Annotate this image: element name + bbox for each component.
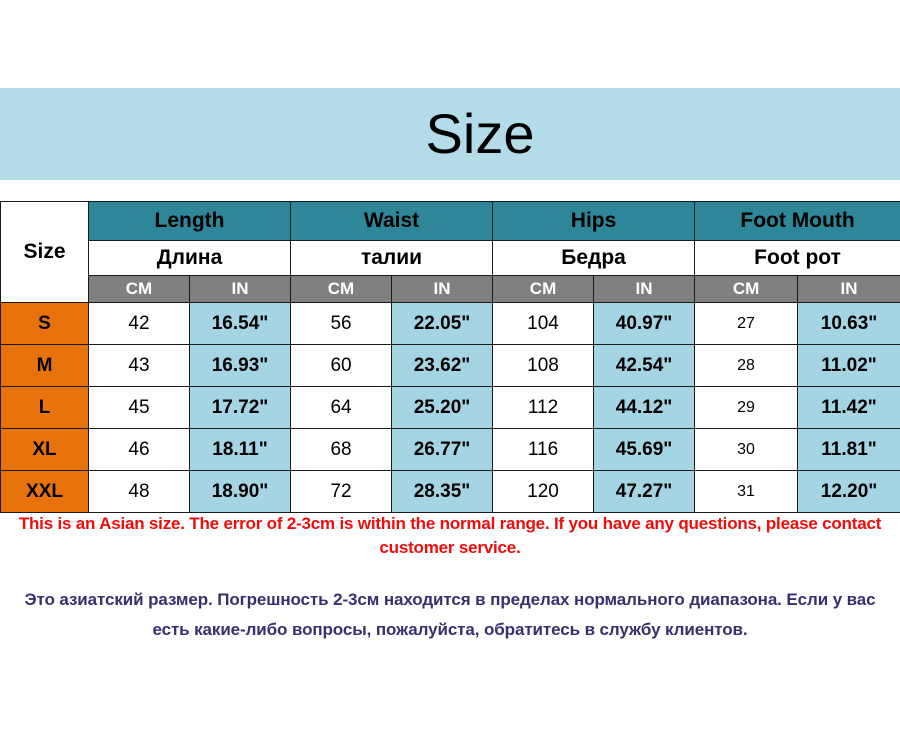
group-header-waist-ru: талии	[291, 241, 493, 276]
cell-hips-cm: 120	[493, 471, 594, 513]
row-size-label: XXL	[1, 471, 89, 513]
size-table: Size Length Waist Hips Foot Mouth Длина …	[0, 201, 900, 513]
title-banner: Size	[0, 88, 900, 180]
cell-foot-cm: 31	[695, 471, 798, 513]
cell-length-in: 16.93"	[190, 345, 291, 387]
cell-length-in: 17.72"	[190, 387, 291, 429]
cell-length-cm: 42	[89, 303, 190, 345]
cell-foot-cm: 27	[695, 303, 798, 345]
cell-foot-in: 12.20"	[798, 471, 900, 513]
cell-waist-cm: 60	[291, 345, 392, 387]
note-russian: Это азиатский размер. Погрешность 2-3см …	[0, 585, 900, 645]
cell-waist-in: 23.62"	[392, 345, 493, 387]
cell-hips-cm: 112	[493, 387, 594, 429]
cell-length-in: 18.90"	[190, 471, 291, 513]
cell-hips-cm: 108	[493, 345, 594, 387]
header-row-english: Size Length Waist Hips Foot Mouth	[1, 202, 900, 241]
unit-header-hips-in: IN	[594, 276, 695, 303]
cell-hips-in: 40.97"	[594, 303, 695, 345]
table-row: XL 46 18.11" 68 26.77" 116 45.69" 30 11.…	[1, 429, 900, 471]
cell-waist-in: 22.05"	[392, 303, 493, 345]
group-header-hips-en: Hips	[493, 202, 695, 241]
header-row-russian: Длина талии Бедра Foot рот	[1, 241, 900, 276]
group-header-footmouth-ru: Foot рот	[695, 241, 900, 276]
row-size-label: M	[1, 345, 89, 387]
group-header-length-en: Length	[89, 202, 291, 241]
cell-waist-cm: 64	[291, 387, 392, 429]
unit-header-foot-in: IN	[798, 276, 900, 303]
cell-length-in: 18.11"	[190, 429, 291, 471]
cell-foot-cm: 30	[695, 429, 798, 471]
cell-length-cm: 45	[89, 387, 190, 429]
page-title: Size	[426, 106, 535, 162]
table-row: L 45 17.72" 64 25.20" 112 44.12" 29 11.4…	[1, 387, 900, 429]
cell-foot-cm: 28	[695, 345, 798, 387]
unit-header-length-cm: CM	[89, 276, 190, 303]
cell-waist-cm: 68	[291, 429, 392, 471]
cell-hips-cm: 104	[493, 303, 594, 345]
cell-hips-in: 42.54"	[594, 345, 695, 387]
group-header-length-ru: Длина	[89, 241, 291, 276]
cell-waist-in: 28.35"	[392, 471, 493, 513]
cell-foot-in: 11.81"	[798, 429, 900, 471]
cell-hips-in: 47.27"	[594, 471, 695, 513]
size-chart-page: Size Size Length Waist Hips Foot Mouth Д…	[0, 0, 900, 750]
unit-header-hips-cm: CM	[493, 276, 594, 303]
unit-header-waist-cm: CM	[291, 276, 392, 303]
cell-hips-in: 44.12"	[594, 387, 695, 429]
cell-foot-in: 11.02"	[798, 345, 900, 387]
note-english: This is an Asian size. The error of 2-3c…	[0, 512, 900, 560]
group-header-waist-en: Waist	[291, 202, 493, 241]
table-row: XXL 48 18.90" 72 28.35" 120 47.27" 31 12…	[1, 471, 900, 513]
row-size-label: XL	[1, 429, 89, 471]
group-header-footmouth-en: Foot Mouth	[695, 202, 900, 241]
cell-hips-in: 45.69"	[594, 429, 695, 471]
cell-waist-in: 26.77"	[392, 429, 493, 471]
unit-header-waist-in: IN	[392, 276, 493, 303]
header-row-units: CM IN CM IN CM IN CM IN	[1, 276, 900, 303]
cell-foot-in: 10.63"	[798, 303, 900, 345]
cell-length-cm: 43	[89, 345, 190, 387]
row-size-label: L	[1, 387, 89, 429]
cell-hips-cm: 116	[493, 429, 594, 471]
row-size-label: S	[1, 303, 89, 345]
unit-header-length-in: IN	[190, 276, 291, 303]
cell-length-in: 16.54"	[190, 303, 291, 345]
cell-length-cm: 46	[89, 429, 190, 471]
cell-waist-cm: 56	[291, 303, 392, 345]
cell-foot-in: 11.42"	[798, 387, 900, 429]
table-row: S 42 16.54" 56 22.05" 104 40.97" 27 10.6…	[1, 303, 900, 345]
cell-length-cm: 48	[89, 471, 190, 513]
cell-waist-in: 25.20"	[392, 387, 493, 429]
cell-foot-cm: 29	[695, 387, 798, 429]
unit-header-foot-cm: CM	[695, 276, 798, 303]
table-row: M 43 16.93" 60 23.62" 108 42.54" 28 11.0…	[1, 345, 900, 387]
size-column-header: Size	[1, 202, 89, 303]
group-header-hips-ru: Бедра	[493, 241, 695, 276]
cell-waist-cm: 72	[291, 471, 392, 513]
